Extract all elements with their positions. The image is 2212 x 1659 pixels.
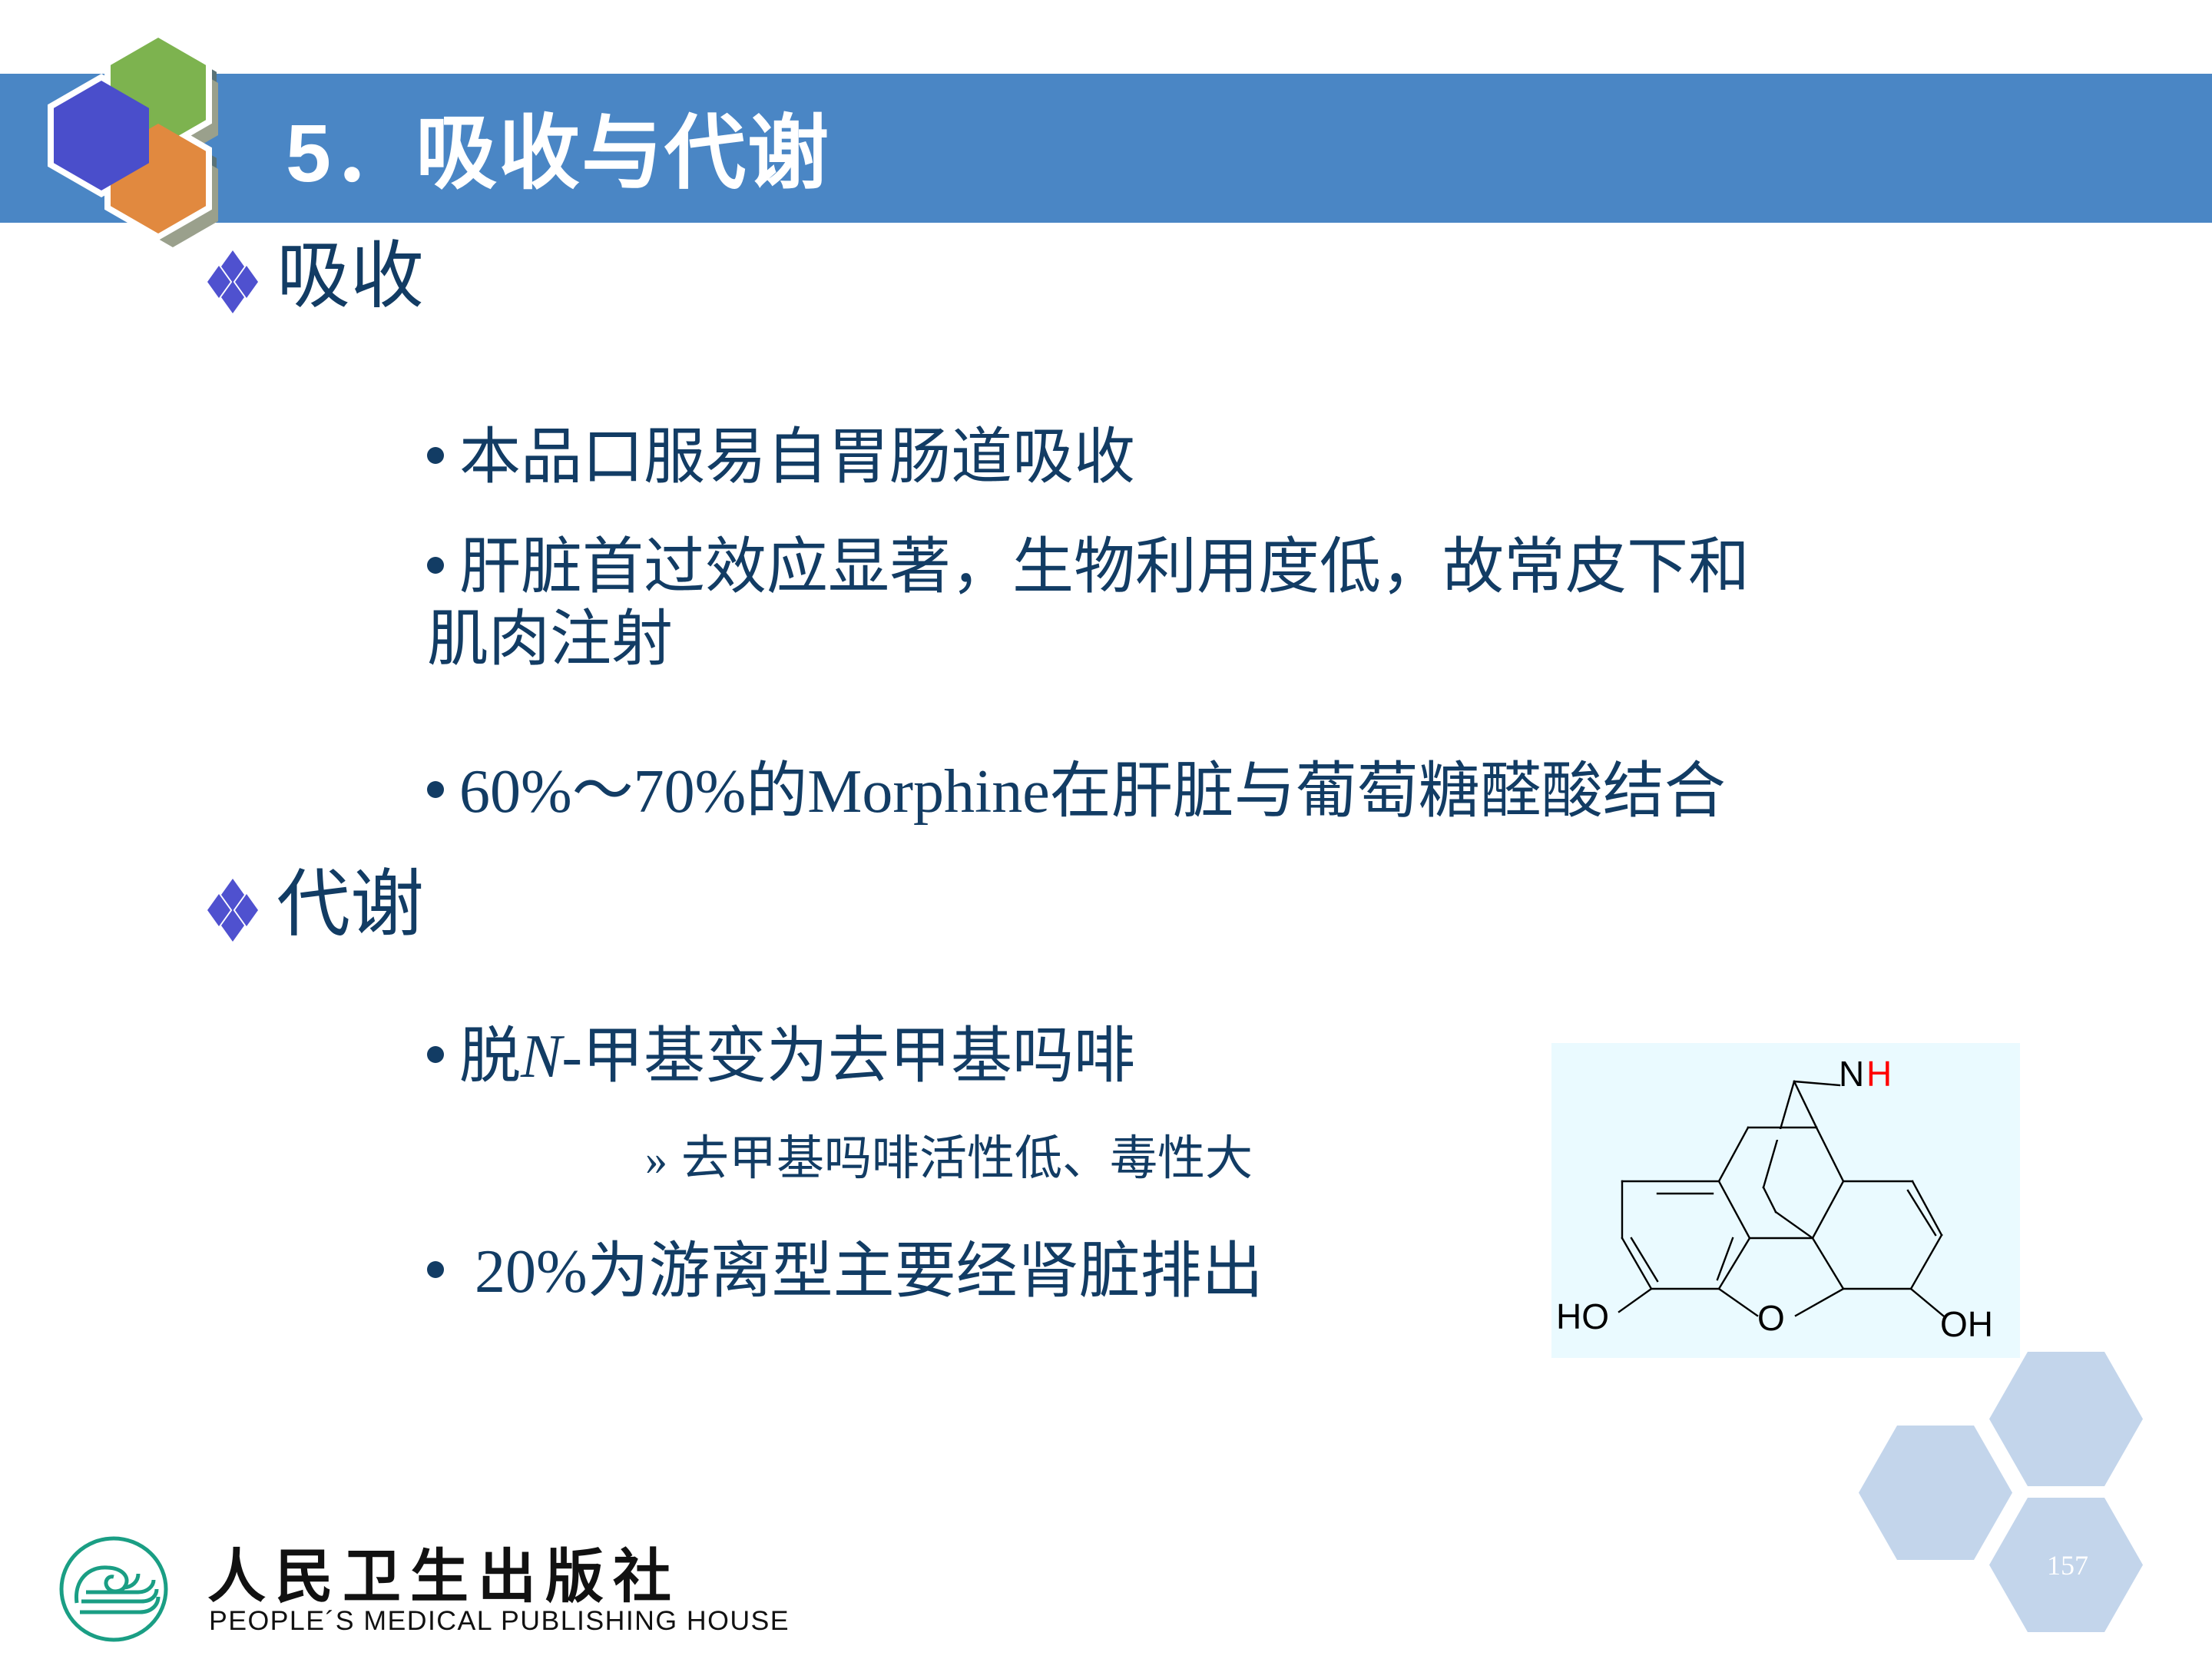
page-number: 157 — [2047, 1549, 2088, 1581]
header-hexagon-logo — [31, 23, 276, 276]
publisher-logo: 人民卫生出版社 PEOPLE´S MEDICAL PUBLISHING HOUS… — [46, 1532, 661, 1647]
sub-list-item-label: 去甲基吗啡活性低、毒性大 — [681, 1133, 1253, 1185]
list-item-label: 20%为游离型主要经肾脏排出 — [459, 1238, 1263, 1306]
label-O: O — [1757, 1298, 1785, 1338]
page-title: 5．吸收与代谢 — [286, 77, 1822, 215]
list-item: 本品口服易自胃肠道吸收 — [427, 422, 1135, 495]
list-item: 肝脏首过效应显著，生物利用度低，故常皮下和肌肉注射 — [427, 532, 1771, 676]
decorative-hexagon-top — [1989, 1352, 2143, 1486]
bullet-dot-icon — [427, 1261, 444, 1278]
label-HO: HO — [1556, 1296, 1609, 1336]
list-item-label-post: -甲基变为去甲基吗啡 — [561, 1023, 1135, 1091]
section-heading-metabolism-label: 代谢 — [276, 868, 424, 942]
publisher-name-en: PEOPLE´S MEDICAL PUBLISHING HOUSE — [209, 1606, 790, 1637]
normorphine-structure-image: N H HO O OH — [1551, 1043, 2020, 1358]
list-item: 20%为游离型主要经肾脏排出 — [427, 1237, 1263, 1309]
list-item: 60%～70%的Morphine在肝脏与葡萄糖醛酸结合 — [427, 757, 1726, 829]
bullet-dot-icon — [427, 1046, 444, 1063]
label-N: N — [1839, 1054, 1864, 1094]
section-heading-absorption: 吸收 — [207, 240, 424, 313]
list-item-label-pre: 脱 — [459, 1023, 521, 1091]
double-chevron-icon: » — [645, 1135, 667, 1184]
label-OH: OH — [1940, 1304, 1993, 1344]
pmph-emblem-icon — [46, 1532, 192, 1647]
sub-list-item: »去甲基吗啡活性低、毒性大 — [645, 1133, 1253, 1185]
bullet-dot-icon — [427, 557, 444, 574]
diamond-bullet-icon — [207, 882, 264, 939]
footer-hexagon-decoration: 157 — [1859, 1352, 2212, 1659]
diamond-bullet-icon — [207, 253, 264, 310]
bullet-dot-icon — [427, 781, 444, 798]
list-item-label: 本品口服易自胃肠道吸收 — [459, 424, 1135, 492]
list-item-label: 肝脏首过效应显著，生物利用度低，故常皮下和肌肉注射 — [427, 534, 1750, 674]
decorative-hexagon-left — [1859, 1426, 2012, 1560]
label-H: H — [1866, 1054, 1892, 1094]
list-item-label-italic: N — [521, 1023, 561, 1091]
list-item: 脱N-甲基变为去甲基吗啡 — [427, 1022, 1135, 1094]
section-heading-absorption-label: 吸收 — [276, 240, 424, 313]
list-item-label: 60%～70%的Morphine在肝脏与葡萄糖醛酸结合 — [459, 758, 1726, 826]
bullet-dot-icon — [427, 447, 444, 464]
section-heading-metabolism: 代谢 — [207, 868, 424, 942]
publisher-name-cn: 人民卫生出版社 — [207, 1529, 680, 1614]
